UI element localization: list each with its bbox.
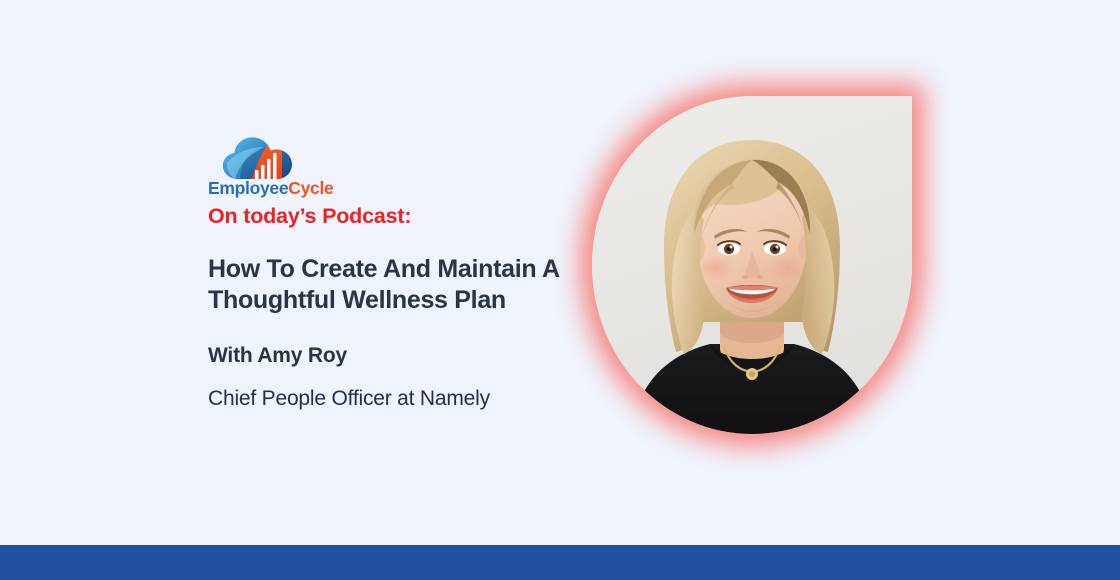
cloud-bar-chart-icon	[222, 136, 294, 180]
podcast-promo-graphic: EmployeeCycle On today’s Podcast: How To…	[0, 0, 1120, 580]
bottom-accent-bar	[0, 545, 1120, 580]
guest-name: With Amy Roy	[208, 343, 588, 368]
guest-headshot	[592, 96, 912, 434]
brand-wordmark-part-one: Employee	[208, 178, 288, 198]
brand-logo: EmployeeCycle	[208, 136, 328, 198]
content-column: EmployeeCycle On today’s Podcast: How To…	[208, 136, 588, 411]
eyebrow-label: On today’s Podcast:	[208, 204, 588, 230]
episode-title: How To Create And Maintain A Thoughtful …	[208, 254, 578, 317]
brand-wordmark-part-two: Cycle	[288, 178, 333, 198]
guest-photo-container	[592, 96, 912, 434]
guest-job-title: Chief People Officer at Namely	[208, 386, 588, 411]
brand-wordmark: EmployeeCycle	[208, 178, 333, 199]
